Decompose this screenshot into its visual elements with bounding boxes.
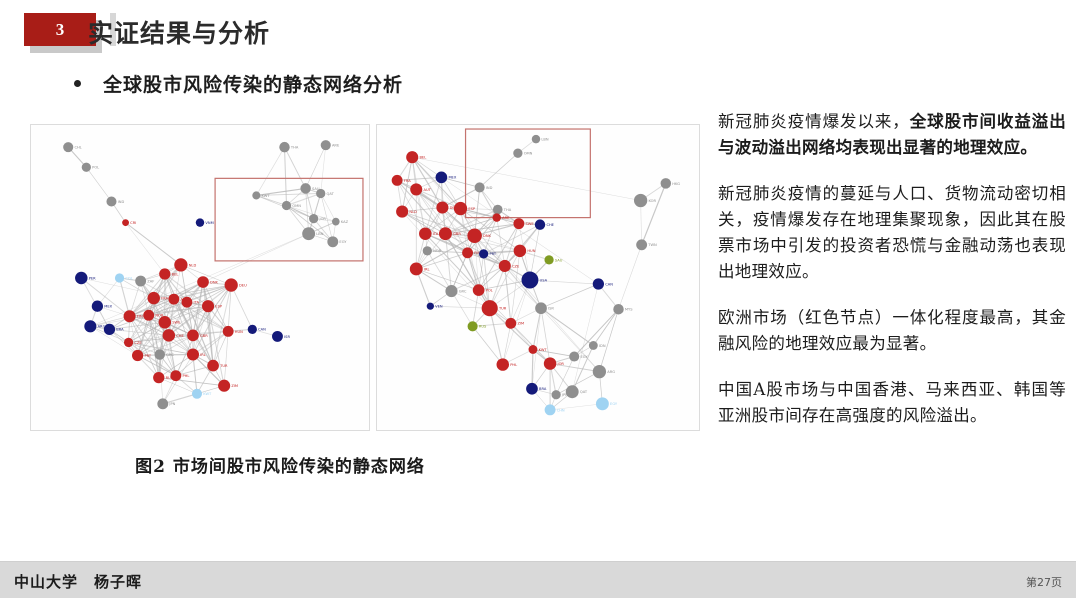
graph-node bbox=[513, 149, 522, 158]
network-panel-right: LBNOMNBELMEXFRAAUTINDHKGKORNLDDEUESPTHAA… bbox=[376, 124, 700, 431]
graph-node bbox=[282, 201, 291, 210]
graph-node bbox=[532, 135, 540, 143]
commentary-paragraph-4: 中国A股市场与中国香港、马来西亚、韩国等亚洲股市间存在高强度的风险溢出。 bbox=[718, 377, 1066, 429]
graph-node bbox=[170, 370, 181, 381]
graph-node bbox=[197, 276, 209, 288]
graph-node-label: TUR bbox=[498, 307, 507, 311]
graph-node-label: SAU bbox=[555, 258, 563, 262]
graph-node-label: CZE bbox=[134, 341, 142, 345]
graph-node bbox=[535, 219, 545, 229]
graph-node bbox=[92, 301, 103, 312]
graph-node bbox=[106, 196, 116, 206]
graph-node bbox=[445, 285, 457, 297]
bullet-row: 全球股市风险传染的静态网络分析 bbox=[74, 70, 403, 97]
graph-node bbox=[419, 227, 431, 239]
graph-node bbox=[497, 358, 509, 370]
graph-node-label: IRL bbox=[424, 267, 430, 271]
section-badge: 3 bbox=[24, 13, 96, 46]
graph-node-label: NLD bbox=[189, 263, 197, 267]
graph-node-label: THA bbox=[290, 146, 299, 150]
highlight-box bbox=[466, 129, 591, 218]
graph-node-label: ZAF bbox=[147, 279, 154, 283]
graph-node-label: EGY bbox=[339, 240, 347, 244]
graph-node-label: KAZ bbox=[341, 220, 349, 224]
graph-node bbox=[132, 350, 143, 361]
graph-node bbox=[309, 214, 318, 223]
graph-node-label: KOR bbox=[648, 199, 656, 203]
graph-node bbox=[493, 205, 503, 215]
graph-node bbox=[163, 329, 175, 341]
graph-node bbox=[529, 345, 538, 354]
graph-node bbox=[613, 304, 623, 314]
graph-node bbox=[82, 163, 91, 172]
graph-node-label: SWE bbox=[172, 321, 181, 325]
graph-node bbox=[174, 258, 187, 271]
graph-node-label: JOR bbox=[319, 217, 327, 221]
graph-node-label: ITA bbox=[433, 232, 439, 236]
graph-node bbox=[589, 341, 598, 350]
graph-node bbox=[159, 316, 171, 328]
graph-node bbox=[636, 239, 647, 250]
graph-node bbox=[157, 398, 168, 409]
graph-node bbox=[545, 404, 556, 415]
graph-node-label: GRC bbox=[459, 289, 467, 293]
para1-lead: 新冠肺炎疫情爆发以来， bbox=[718, 112, 910, 131]
graph-node-label: USA bbox=[540, 278, 548, 282]
graph-node-label: MEX bbox=[104, 305, 112, 309]
graph-node-label: ISR bbox=[284, 335, 290, 339]
graph-node bbox=[327, 236, 338, 247]
graph-node-label: LBN bbox=[316, 232, 323, 236]
graph-node bbox=[302, 227, 315, 240]
graph-node bbox=[218, 380, 230, 392]
graph-node-label: ISR bbox=[548, 307, 554, 311]
graph-node bbox=[482, 300, 498, 316]
graph-node-label: CHE bbox=[546, 223, 554, 227]
graph-node bbox=[406, 151, 418, 163]
graph-node bbox=[462, 247, 473, 258]
graph-node bbox=[248, 325, 257, 334]
graph-node-label: KWT bbox=[539, 348, 548, 352]
graph-node bbox=[196, 218, 204, 226]
commentary-paragraph-2: 新冠肺炎疫情的蔓延与人口、货物流动密切相关，疫情爆发存在地理集聚现象，因此其在股… bbox=[718, 181, 1066, 285]
graph-node bbox=[593, 365, 606, 378]
graph-node-label: PER bbox=[89, 276, 96, 280]
graph-node bbox=[272, 331, 283, 342]
graph-node-label: EGY bbox=[580, 355, 588, 359]
graph-node-label: CHE bbox=[176, 334, 184, 338]
graph-node bbox=[63, 142, 73, 152]
graph-node-label: HKG bbox=[672, 182, 680, 186]
graph-node bbox=[593, 278, 604, 289]
graph-node bbox=[135, 276, 146, 287]
graph-node-label: TUR bbox=[219, 364, 228, 368]
graph-node-label: EGY bbox=[610, 402, 618, 406]
graph-node bbox=[84, 320, 96, 332]
graph-node-label: MYS bbox=[625, 308, 633, 312]
graph-node-label: BRA bbox=[116, 328, 124, 332]
graph-node-label: CZE bbox=[512, 264, 520, 268]
graph-node-label: JOR bbox=[557, 362, 565, 366]
graph-node-label: HUN bbox=[235, 330, 243, 334]
graph-node bbox=[505, 318, 516, 329]
commentary-column: 新冠肺炎疫情爆发以来，全球股市间收益溢出与波动溢出网络均表现出显著的地理效应。 … bbox=[718, 92, 1066, 449]
graph-node bbox=[396, 206, 408, 218]
graph-node bbox=[181, 297, 192, 308]
graph-node bbox=[321, 140, 331, 150]
graph-node-label: VNM bbox=[205, 221, 213, 225]
network-graph-left: CHLPOLINDCRITHAARESAUKWTQATOMNJORKAZLBNE… bbox=[31, 125, 369, 430]
graph-node bbox=[544, 357, 556, 369]
graph-node-label: IND bbox=[486, 186, 493, 190]
graph-node bbox=[192, 389, 202, 399]
graph-edges bbox=[68, 145, 336, 404]
graph-node bbox=[521, 272, 538, 289]
graph-node-label: GBR bbox=[453, 232, 461, 236]
commentary-paragraph-3: 欧洲市场（红色节点）一体化程度最高，其金融风险的地理效应最为显著。 bbox=[718, 305, 1066, 357]
graph-node-label: POL bbox=[486, 288, 493, 292]
graph-node-label: KWT bbox=[262, 194, 271, 198]
graph-node bbox=[551, 390, 560, 399]
bullet-label: 全球股市风险传染的静态网络分析 bbox=[103, 70, 403, 97]
graph-node bbox=[124, 338, 133, 347]
graph-node-label: DEU bbox=[239, 283, 247, 287]
graph-node-label: SWE bbox=[526, 222, 535, 226]
graph-node bbox=[410, 263, 423, 276]
graph-node-label: DNK bbox=[483, 234, 491, 238]
graph-node-label: NLD bbox=[409, 210, 417, 214]
graph-node bbox=[225, 278, 238, 291]
graph-node bbox=[202, 300, 214, 312]
graph-node bbox=[468, 321, 478, 331]
graph-node bbox=[279, 142, 289, 152]
graph-node-label: CAN bbox=[605, 282, 613, 286]
graph-node bbox=[513, 218, 524, 229]
graph-node-label: TWN bbox=[647, 243, 657, 247]
graph-node bbox=[544, 255, 553, 264]
footer-institution: 中山大学 杨子晖 bbox=[14, 571, 142, 592]
graph-node-label: OMN bbox=[524, 152, 533, 156]
graph-node bbox=[153, 372, 164, 383]
graph-node bbox=[569, 351, 579, 361]
network-panel-left: CHLPOLINDCRITHAARESAUKWTQATOMNJORKAZLBNE… bbox=[30, 124, 370, 431]
graph-node bbox=[436, 172, 448, 184]
page-title: 实证结果与分析 bbox=[88, 14, 270, 50]
graph-node bbox=[392, 175, 403, 186]
graph-node bbox=[122, 219, 129, 226]
graph-node bbox=[634, 194, 647, 207]
graph-node bbox=[159, 268, 170, 279]
graph-node-label: CRI bbox=[130, 221, 136, 225]
graph-node-label: GBR bbox=[200, 334, 208, 338]
graph-node-label: ITA bbox=[194, 301, 200, 305]
graph-node-label: DNK bbox=[210, 280, 218, 284]
graph-node-label: MEX bbox=[448, 176, 456, 180]
graph-node-label: IND bbox=[118, 200, 125, 204]
graph-node-label: IDN bbox=[599, 344, 606, 348]
graph-node-label: PRT bbox=[489, 252, 496, 256]
graph-node-label: BEL bbox=[419, 156, 426, 160]
graph-node bbox=[124, 310, 136, 322]
slide-header: 3 实证结果与分析 bbox=[0, 0, 1076, 62]
graph-node-label: JPN bbox=[168, 402, 175, 406]
graph-node bbox=[439, 227, 452, 240]
graph-node-label: BRA bbox=[539, 387, 547, 391]
graph-node bbox=[596, 397, 609, 410]
slide-footer: 中山大学 杨子晖 第27页 bbox=[0, 561, 1076, 598]
graph-node bbox=[454, 202, 467, 215]
graph-node-label: ARG bbox=[607, 370, 615, 374]
graph-node-label: FIN bbox=[137, 315, 143, 319]
graph-node-label: QAT bbox=[580, 390, 588, 394]
graph-node-label: ZIM bbox=[231, 384, 238, 388]
graph-node bbox=[207, 360, 219, 372]
graph-node-label: HUN bbox=[527, 249, 535, 253]
graph-node-label: ARE bbox=[502, 216, 510, 220]
graph-node bbox=[168, 294, 179, 305]
graph-node bbox=[423, 246, 432, 255]
graph-node-label: BEL bbox=[172, 272, 179, 276]
graph-node bbox=[104, 324, 115, 335]
figure-caption: 图2 市场间股市风险传染的静态网络 bbox=[30, 452, 530, 477]
graph-node bbox=[526, 383, 538, 395]
graph-node-label: RUS bbox=[479, 325, 487, 329]
graph-node-label: PRT bbox=[144, 354, 151, 358]
graph-node bbox=[332, 218, 340, 226]
graph-node bbox=[252, 191, 260, 199]
graph-node bbox=[316, 189, 325, 198]
graph-node-label: THA bbox=[503, 208, 512, 212]
graph-node bbox=[147, 292, 159, 304]
graph-node bbox=[467, 228, 481, 242]
graph-node-label: KWT bbox=[203, 392, 212, 396]
graph-node bbox=[661, 178, 671, 188]
graph-node-label: PHL bbox=[510, 363, 517, 367]
graph-node bbox=[499, 260, 511, 272]
graph-node-label: IRL bbox=[200, 353, 206, 357]
graph-node-label: AUT bbox=[423, 188, 431, 192]
graph-node-label: LBN bbox=[541, 138, 548, 142]
graph-node-label: GRC bbox=[166, 353, 174, 357]
slide-root: 3 实证结果与分析 全球股市风险传染的静态网络分析 CHLPOLINDCRITH… bbox=[0, 0, 1076, 598]
graph-node-label: CAN bbox=[258, 328, 266, 332]
graph-node bbox=[187, 330, 199, 342]
graph-node bbox=[493, 213, 501, 221]
graph-node-label: ESP bbox=[215, 305, 223, 309]
graph-node-label: ARE bbox=[332, 144, 340, 148]
graph-node bbox=[535, 302, 547, 314]
network-graph-right: LBNOMNBELMEXFRAAUTINDHKGKORNLDDEUESPTHAA… bbox=[377, 125, 699, 430]
graph-node bbox=[479, 249, 488, 258]
graph-node bbox=[566, 385, 579, 398]
graph-node bbox=[514, 245, 526, 257]
graph-node-label: FRA bbox=[161, 297, 168, 301]
graph-node-label: CHL bbox=[74, 146, 81, 150]
graph-node-label: QAT bbox=[327, 192, 335, 196]
graph-node bbox=[143, 310, 154, 321]
section-number: 3 bbox=[56, 20, 65, 40]
graph-node-label: COL bbox=[125, 276, 132, 280]
graph-node bbox=[223, 326, 234, 337]
graph-node-label: NOR bbox=[155, 314, 164, 318]
graph-node-label: ESP bbox=[468, 207, 476, 211]
graph-node-label: OMN bbox=[292, 204, 301, 208]
footer-page-number: 第27页 bbox=[1026, 574, 1062, 590]
graph-node bbox=[436, 202, 448, 214]
graph-node bbox=[473, 284, 485, 296]
graph-node-label: PHL bbox=[182, 374, 189, 378]
graph-node bbox=[155, 349, 165, 359]
graph-node bbox=[75, 272, 87, 284]
commentary-paragraph-1: 新冠肺炎疫情爆发以来，全球股市间收益溢出与波动溢出网络均表现出显著的地理效应。 bbox=[718, 109, 1066, 161]
graph-node bbox=[427, 303, 434, 310]
graph-node bbox=[300, 183, 310, 193]
graph-node bbox=[475, 182, 485, 192]
graph-node-label: ZIM bbox=[517, 322, 524, 326]
graph-node bbox=[410, 183, 422, 195]
graph-node-label: NOR bbox=[433, 249, 442, 253]
bullet-dot-icon bbox=[74, 80, 81, 87]
graph-node-label: VEN bbox=[435, 305, 443, 309]
graph-node-label: POL bbox=[92, 166, 99, 170]
graph-node-label: CHN bbox=[557, 408, 565, 412]
graph-node bbox=[115, 273, 124, 282]
graph-node bbox=[187, 348, 199, 360]
graph-node-label: FRA bbox=[404, 179, 411, 183]
